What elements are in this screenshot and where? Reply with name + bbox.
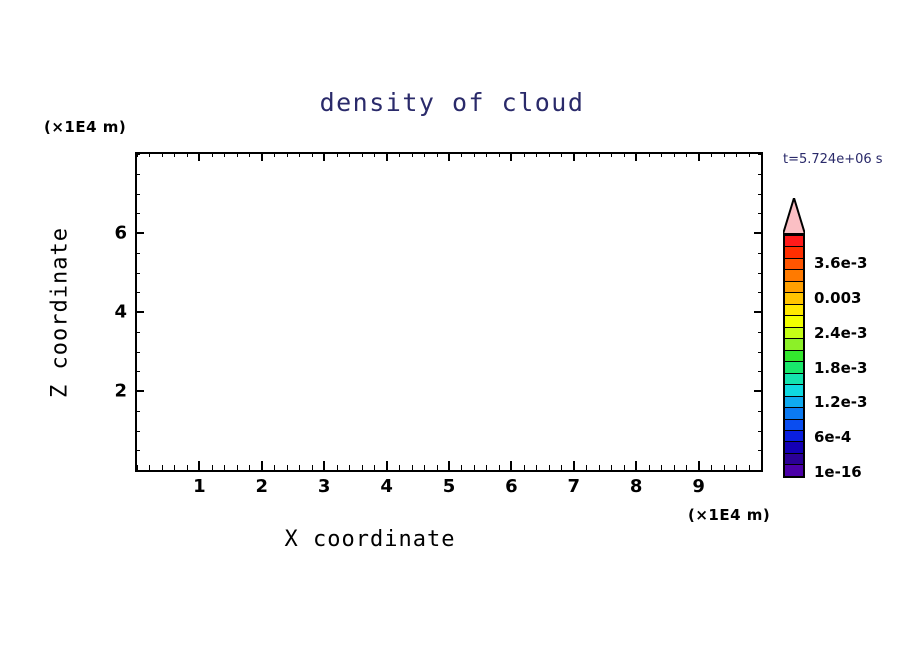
colorbar-tick-label: 0.003: [814, 289, 861, 307]
colorbar-arrow-outline-icon: [783, 198, 805, 234]
plot-frame: [135, 152, 763, 472]
colorbar-tick-label: 1.8e-3: [814, 359, 867, 377]
colorbar-segment: [785, 431, 803, 442]
x-tick-label: 3: [318, 476, 331, 497]
colorbar-tick-label: 1e-16: [814, 463, 862, 481]
x-tick-label: 5: [443, 476, 456, 497]
colorbar-segment: [785, 293, 803, 304]
colorbar-segment: [785, 282, 803, 293]
x-tick-label: 9: [692, 476, 705, 497]
x-tick-label: 6: [505, 476, 518, 497]
colorbar-tick-label: 1.2e-3: [814, 393, 867, 411]
colorbar-segment: [785, 397, 803, 408]
colorbar-segment: [785, 442, 803, 453]
y-axis-unit-label: (×1E4 m): [44, 118, 126, 136]
colorbar-segment: [785, 236, 803, 247]
page-title: density of cloud: [0, 88, 904, 117]
colorbar-segment: [785, 247, 803, 258]
y-axis-title: Z coordinate: [48, 193, 73, 433]
colorbar-segment: [785, 374, 803, 385]
x-tick-label: 2: [256, 476, 269, 497]
colorbar-segment: [785, 454, 803, 465]
colorbar-gradient: [783, 234, 805, 478]
colorbar-segment: [785, 351, 803, 362]
x-tick-label: 1: [193, 476, 206, 497]
colorbar-tick-label: 2.4e-3: [814, 324, 867, 342]
colorbar-segment: [785, 465, 803, 475]
colorbar-segment: [785, 328, 803, 339]
colorbar-tick-label: 3.6e-3: [814, 254, 867, 272]
colorbar-segment: [785, 408, 803, 419]
colorbar-segment: [785, 270, 803, 281]
time-annotation: t=5.724e+06 s: [783, 152, 883, 167]
x-tick-label: 8: [630, 476, 643, 497]
colorbar-tick-label: 6e-4: [814, 428, 851, 446]
y-tick-label: 2: [99, 381, 127, 402]
y-tick-label: 6: [99, 223, 127, 244]
colorbar-segment: [785, 420, 803, 431]
colorbar-segment: [785, 259, 803, 270]
colorbar-segment: [785, 362, 803, 373]
x-tick-label: 4: [380, 476, 393, 497]
colorbar-segment: [785, 339, 803, 350]
x-axis-unit-label: (×1E4 m): [688, 506, 770, 524]
x-tick-label: 7: [568, 476, 581, 497]
x-axis-title: X coordinate: [0, 527, 740, 552]
y-tick-label: 4: [99, 302, 127, 323]
colorbar-segment: [785, 385, 803, 396]
colorbar-segment: [785, 316, 803, 327]
colorbar-segment: [785, 305, 803, 316]
